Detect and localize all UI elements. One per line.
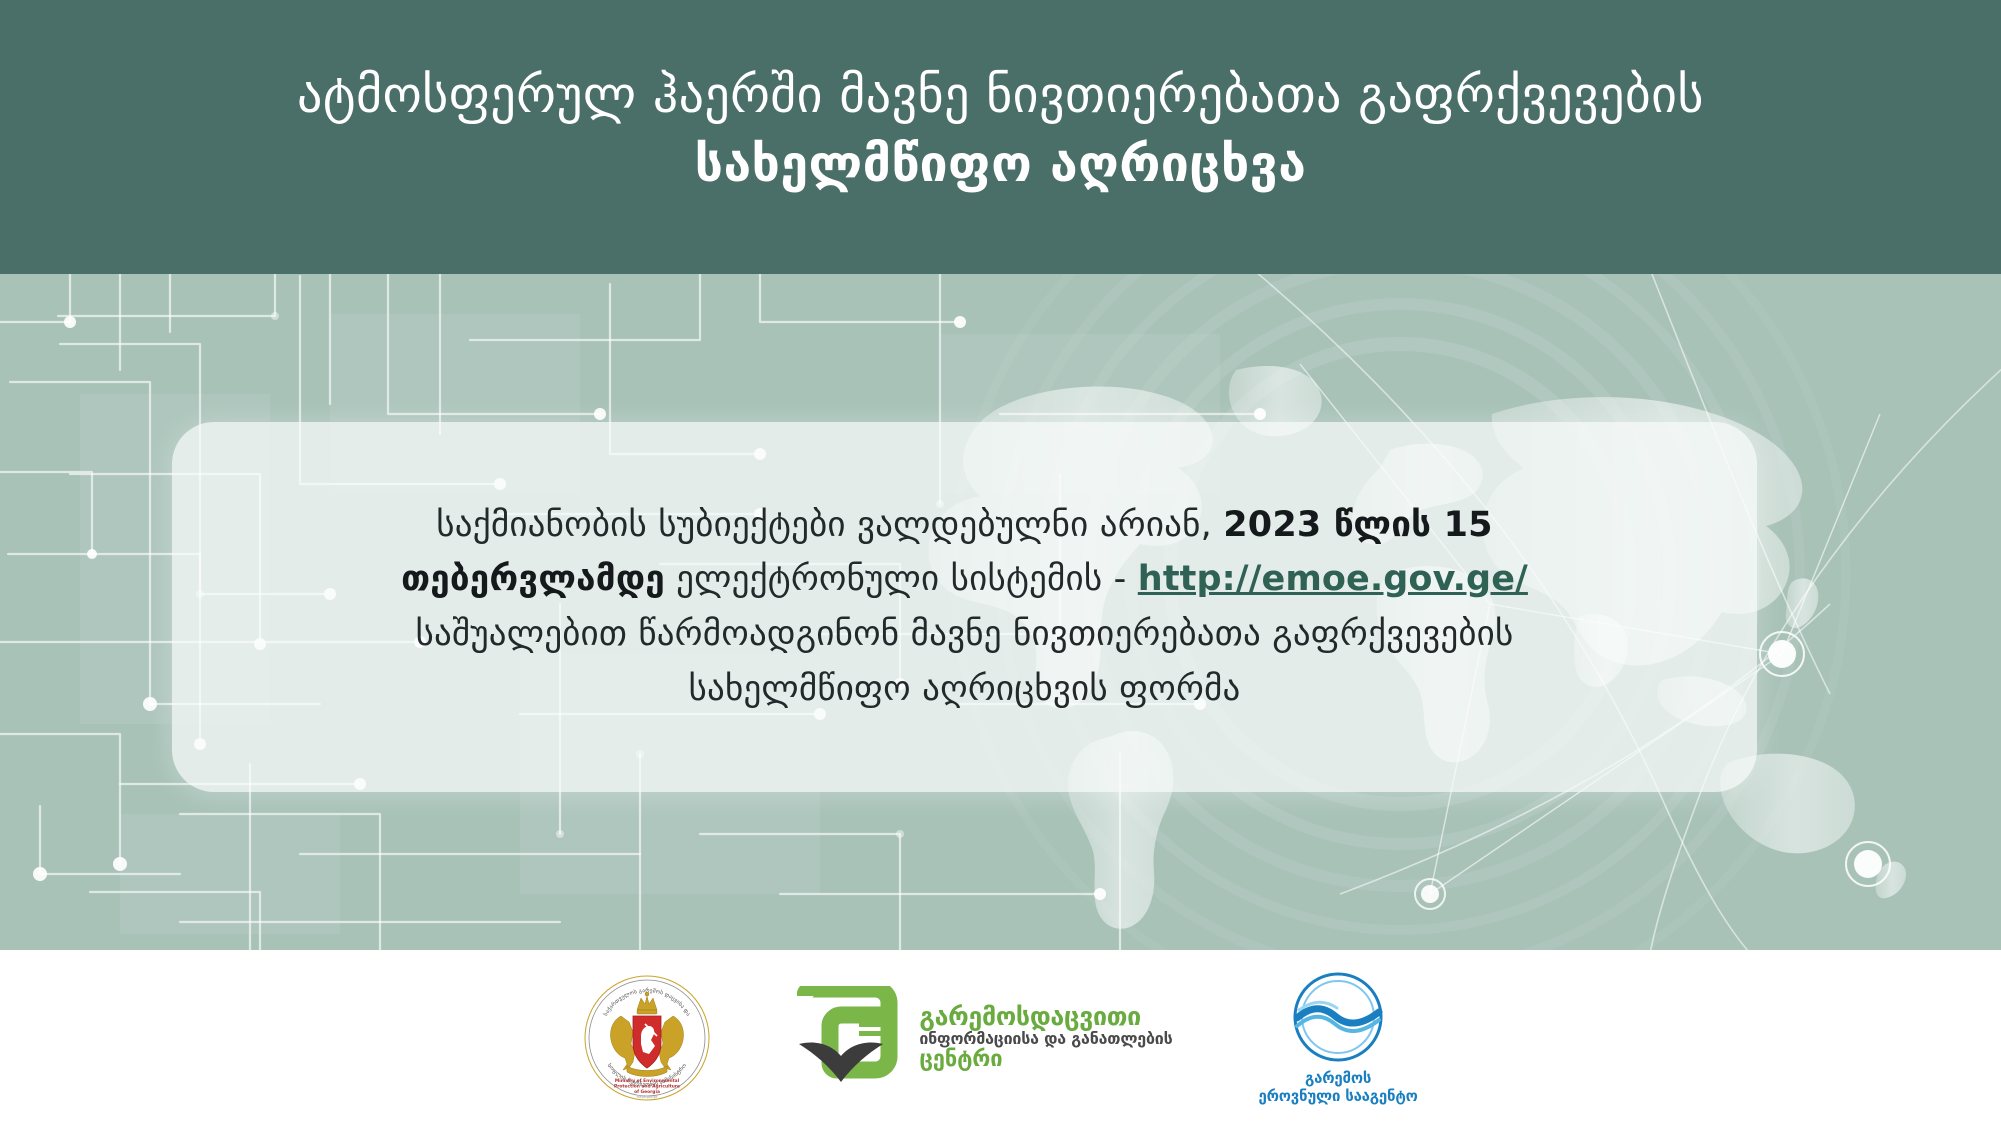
ministry-logo: საქართველოს გარემოს დაცვისა და სოფლის მე… bbox=[583, 974, 711, 1102]
footer-logo-band: საქართველოს გარემოს დაცვისა და სოფლის მე… bbox=[0, 950, 2001, 1125]
header-title-line-2: სახელმწიფო აღრიცხვა bbox=[695, 136, 1307, 193]
svg-text:of Georgia: of Georgia bbox=[634, 1088, 660, 1094]
text-segment-3: საშუალებით წარმოადგინონ მავნე ნივთიერება… bbox=[416, 614, 1514, 709]
emoe-portal-link[interactable]: http://emoe.gov.ge/ bbox=[1138, 559, 1528, 599]
nea-logo-line-1: გარემოს bbox=[1259, 1070, 1418, 1088]
eiec-logo-line-3: ცენტრი bbox=[919, 1048, 1172, 1071]
svg-text:Protection and Agriculture: Protection and Agriculture bbox=[614, 1083, 680, 1089]
header-band: ატმოსფერულ ჰაერში მავნე ნივთიერებათა გაფ… bbox=[0, 0, 2001, 274]
announcement-card: საქმიანობის სუბიექტები ვალდებულნი არიან,… bbox=[172, 422, 1757, 792]
announcement-text: საქმიანობის სუბიექტები ვალდებულნი არიან,… bbox=[305, 498, 1625, 716]
eiec-logo-line-2: ინფორმაციისა და განათლების bbox=[919, 1031, 1172, 1048]
text-segment-1: საქმიანობის სუბიექტები ვალდებულნი არიან, bbox=[436, 505, 1223, 545]
open-book-leaf-icon bbox=[797, 986, 905, 1090]
header-title-line-1: ატმოსფერულ ჰაერში მავნე ნივთიერებათა გაფ… bbox=[297, 67, 1704, 124]
georgia-coat-of-arms-seal-icon: საქართველოს გარემოს დაცვისა და სოფლის მე… bbox=[583, 974, 711, 1102]
nea-logo: გარემოს ეროვნული სააგენტო bbox=[1259, 970, 1418, 1105]
wave-circle-icon bbox=[1291, 970, 1385, 1064]
text-segment-2: ელექტრონული სისტემის - bbox=[665, 559, 1138, 599]
svg-text:mepa.gov.ge: mepa.gov.ge bbox=[637, 1095, 658, 1099]
announcement-poster: ატმოსფერულ ჰაერში მავნე ნივთიერებათა გაფ… bbox=[0, 0, 2001, 1125]
eiec-logo-line-1: გარემოსდაცვითი bbox=[919, 1004, 1172, 1031]
nea-logo-line-2: ეროვნული სააგენტო bbox=[1259, 1088, 1418, 1106]
svg-text:Ministry of Environmental: Ministry of Environmental bbox=[615, 1078, 680, 1084]
eiec-logo: გარემოსდაცვითი ინფორმაციისა და განათლები… bbox=[797, 986, 1172, 1090]
